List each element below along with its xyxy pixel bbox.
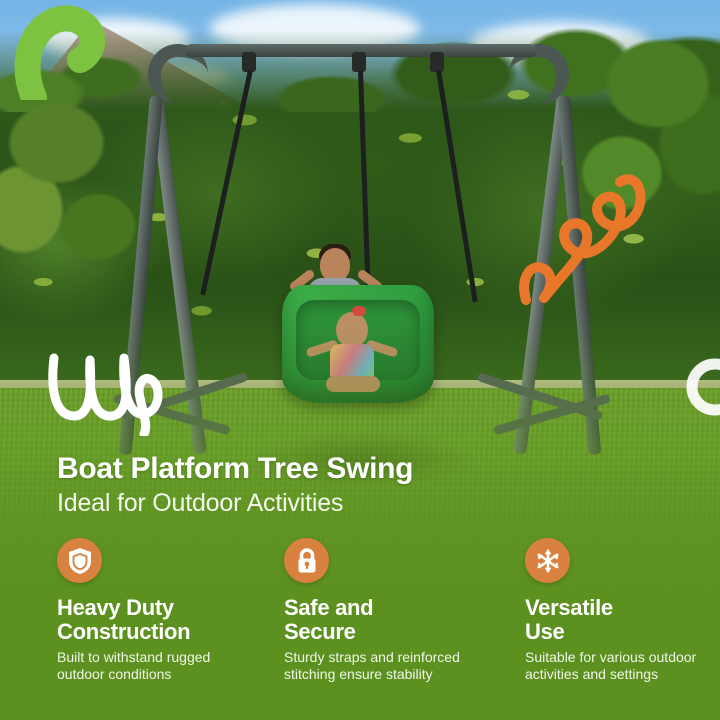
shield-icon xyxy=(67,547,93,575)
swing-hanger xyxy=(352,52,366,72)
child-boy-head xyxy=(320,248,350,282)
feature-title: Versatile Use xyxy=(525,596,720,644)
feature-item-heavy-duty: Heavy Duty Construction Built to withsta… xyxy=(57,538,272,684)
multi-direction-arrows-icon xyxy=(534,547,562,575)
product-marketing-image: Boat Platform Tree Swing Ideal for Outdo… xyxy=(0,0,720,720)
feature-title: Heavy Duty Construction xyxy=(57,596,272,644)
feature-icon-badge xyxy=(57,538,102,583)
feature-description: Suitable for various outdoor activities … xyxy=(525,649,720,684)
feature-list: Heavy Duty Construction Built to withsta… xyxy=(0,538,720,720)
green-arc-doodle-icon xyxy=(0,0,114,100)
feature-item-versatile-use: Versatile Use Suitable for various outdo… xyxy=(525,538,720,684)
feature-description: Sturdy straps and reinforced stitching e… xyxy=(284,649,499,684)
feature-item-safe-secure: Safe and Secure Sturdy straps and reinfo… xyxy=(284,538,499,684)
page-subtitle: Ideal for Outdoor Activities xyxy=(57,489,343,518)
white-cursive-squiggle-icon xyxy=(44,346,174,436)
feature-description: Built to withstand rugged outdoor condit… xyxy=(57,649,272,684)
lock-icon xyxy=(294,547,320,575)
orange-cursive-squiggle-icon xyxy=(518,168,653,313)
swing-hanger xyxy=(430,52,444,72)
page-title: Boat Platform Tree Swing xyxy=(57,452,413,486)
feature-icon-badge xyxy=(525,538,570,583)
feature-title: Safe and Secure xyxy=(284,596,499,644)
feature-icon-badge xyxy=(284,538,329,583)
white-ring-outline-icon xyxy=(680,352,720,422)
